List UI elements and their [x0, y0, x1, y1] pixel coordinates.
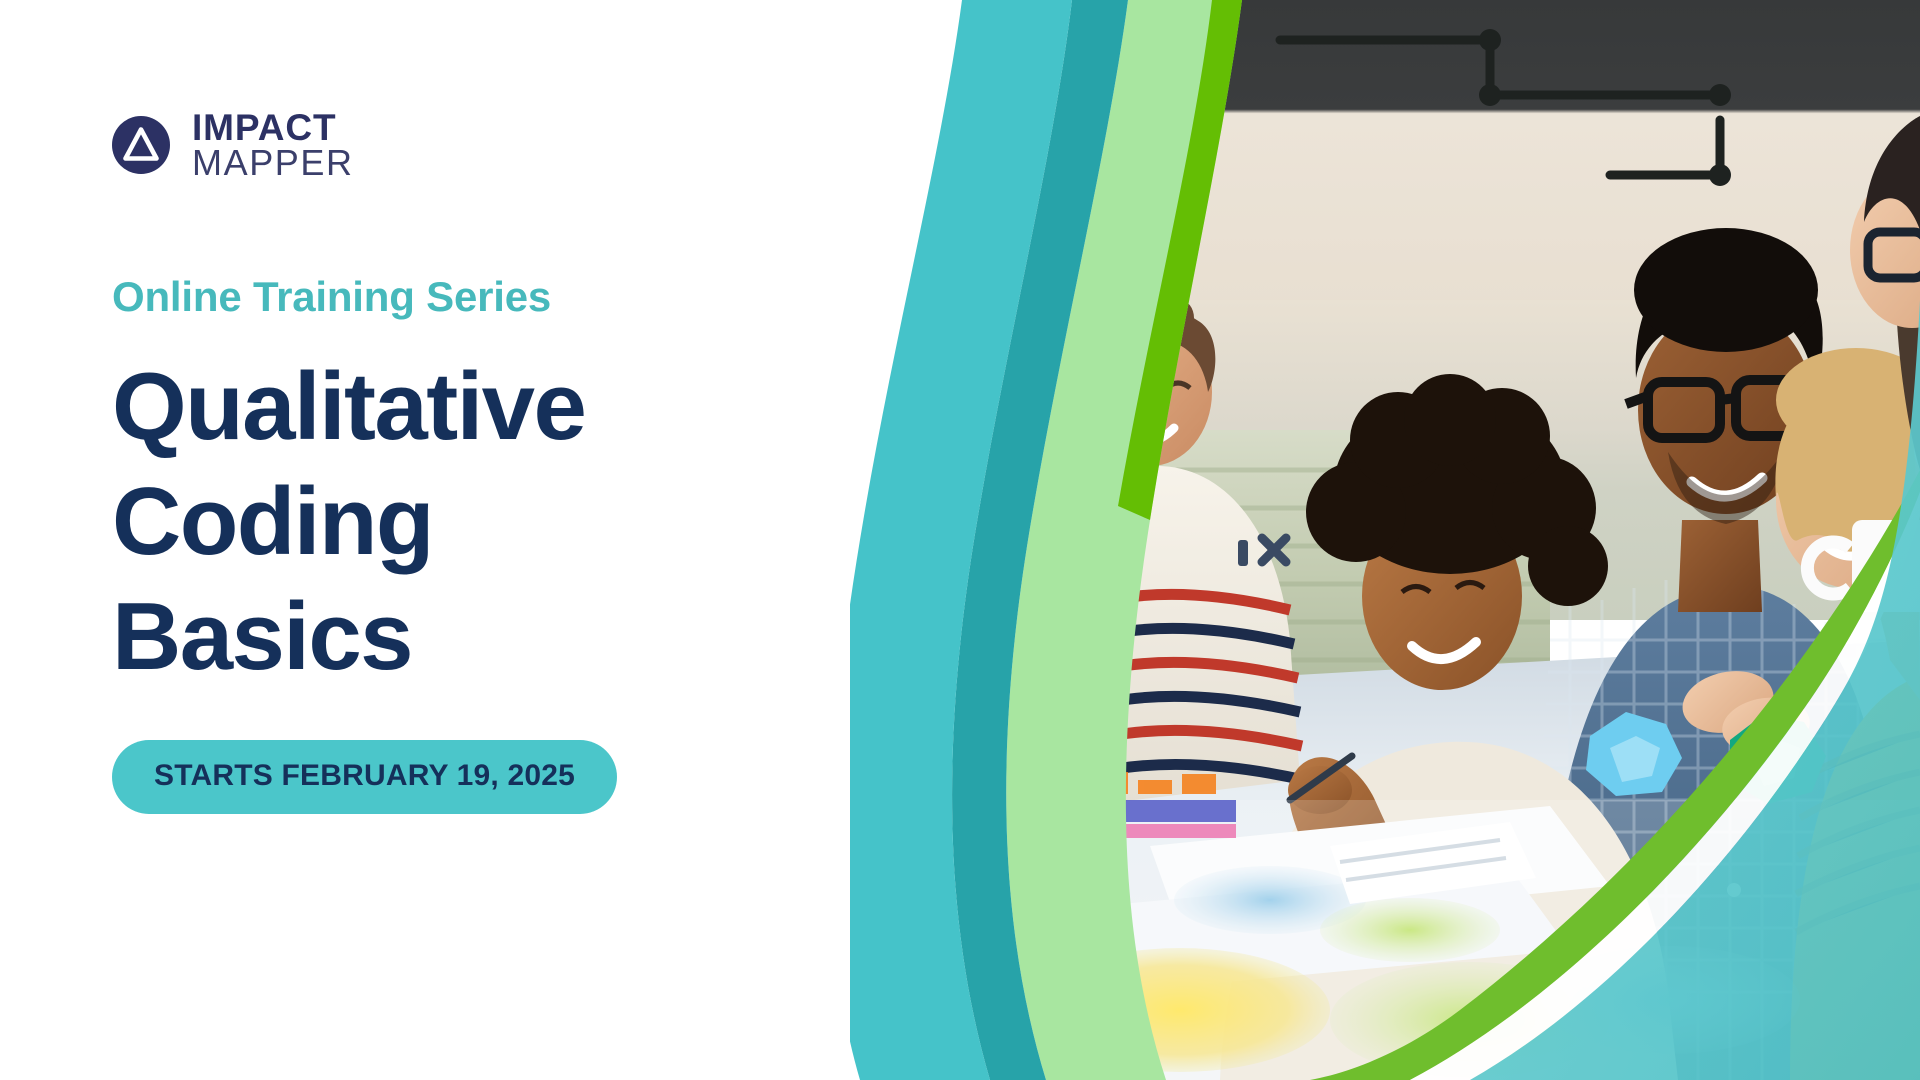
series-eyebrow: Online Training Series [112, 273, 900, 321]
hero-artwork [850, 0, 1920, 1080]
start-date-badge[interactable]: STARTS FEBRUARY 19, 2025 [112, 740, 617, 814]
impactmapper-triangle-icon [112, 116, 170, 174]
brand-logo[interactable]: IMPACT MAPPER [112, 110, 900, 181]
page-title: Qualitative Coding Basics [112, 349, 900, 695]
headline-line-2: Coding [112, 464, 900, 579]
headline-line-1: Qualitative [112, 349, 900, 464]
artwork-svg [850, 0, 1920, 1080]
logo-text-impact: IMPACT [192, 110, 354, 146]
logo-text-mapper: MAPPER [192, 146, 354, 181]
headline-line-3: Basics [112, 579, 900, 694]
content-panel: IMPACT MAPPER Online Training Series Qua… [0, 0, 900, 1080]
promo-banner: IMPACT MAPPER Online Training Series Qua… [0, 0, 1920, 1080]
